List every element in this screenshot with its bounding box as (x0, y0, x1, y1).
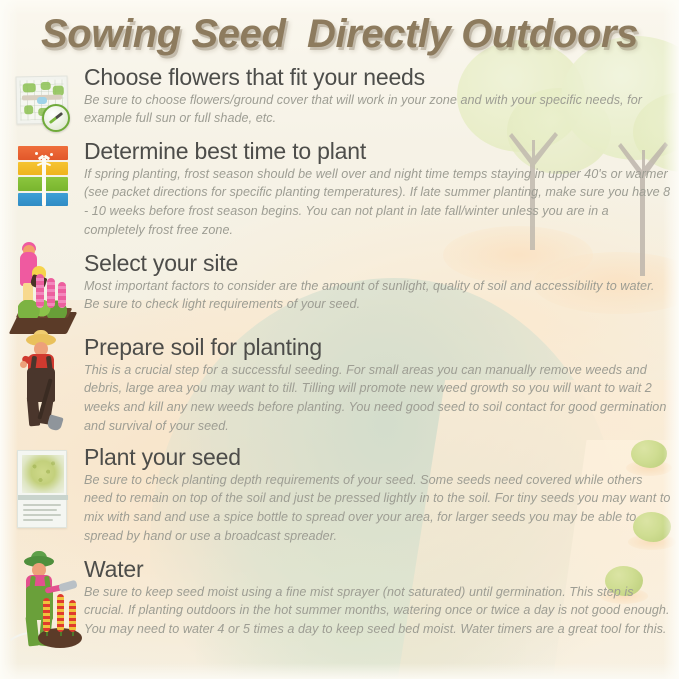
seed-packet-photo (22, 455, 64, 493)
season-tree-overlay (37, 148, 51, 206)
seed-packet-icon (12, 444, 78, 540)
compass-icon (42, 104, 70, 132)
four-seasons-tree-icon (12, 138, 78, 234)
step-description: This is a crucial step for a successful … (84, 361, 672, 435)
season-bars (18, 146, 68, 208)
compass-needle (49, 112, 63, 124)
gardener-hand (20, 361, 27, 368)
plan-bed-shape (24, 105, 33, 114)
season-leaf-dot (50, 153, 53, 156)
foxglove-spike (47, 278, 55, 308)
seed-packet-card (17, 450, 67, 528)
red-flower-spike (57, 594, 64, 632)
step-description: Be sure to keep seed moist using a fine … (84, 583, 672, 639)
poster-title-wrap: Sowing Seed Directly Outdoors (0, 12, 679, 57)
step-heading: Determine best time to plant (84, 139, 672, 164)
step-select-site: Select your site Most important factors … (12, 250, 672, 346)
step-body: Select your site Most important factors … (78, 250, 672, 314)
page-title: Sowing Seed Directly Outdoors (41, 12, 638, 57)
plan-bed-shape (23, 83, 36, 92)
step-description: Be sure to check planting depth requirem… (84, 471, 672, 545)
step-body: Prepare soil for planting This is a cruc… (78, 334, 672, 435)
step-prepare-soil: Prepare soil for planting This is a cruc… (12, 334, 672, 435)
step-body: Plant your seed Be sure to check plantin… (78, 444, 672, 545)
gardener-leg (25, 616, 39, 647)
content-layer: Sowing Seed Directly Outdoors (0, 0, 679, 679)
red-flower-spike (69, 600, 76, 632)
shovel-blade (46, 414, 63, 431)
step-heading: Select your site (84, 251, 672, 276)
plan-bed-shape (41, 82, 51, 90)
packet-text-line (23, 519, 53, 521)
red-flower-spike (43, 598, 50, 632)
foxglove-spike (36, 274, 44, 308)
foxglove-spike (58, 282, 66, 308)
step-heading: Water (84, 557, 672, 582)
gardener-watering-icon (12, 556, 78, 652)
step-description: If spring planting, frost season should … (84, 165, 672, 239)
infographic-poster: Sowing Seed Directly Outdoors (0, 0, 679, 679)
packet-text-line (23, 514, 61, 516)
packet-text-line (23, 504, 61, 506)
seed-packet-band (18, 495, 68, 500)
step-heading: Choose flowers that fit your needs (84, 65, 672, 90)
step-body: Water Be sure to keep seed moist using a… (78, 556, 672, 639)
step-plant-seed: Plant your seed Be sure to check plantin… (12, 444, 672, 545)
gardener-with-shovel-icon (12, 334, 78, 430)
step-heading: Plant your seed (84, 445, 672, 470)
seed-texture (22, 455, 64, 493)
step-description: Be sure to choose flowers/ground cover t… (84, 91, 672, 128)
plan-water-shape (37, 97, 47, 104)
step-water: Water Be sure to keep seed moist using a… (12, 556, 672, 652)
season-leaf-dot (35, 152, 38, 155)
step-description: Most important factors to consider are t… (84, 277, 672, 314)
step-heading: Prepare soil for planting (84, 335, 672, 360)
step-body: Choose flowers that fit your needs Be su… (78, 64, 672, 128)
spray-nozzle (58, 580, 78, 593)
step-body: Determine best time to plant If spring p… (78, 138, 672, 239)
packet-text-line (23, 509, 57, 511)
season-tree-trunk (42, 158, 46, 206)
step-determine-time: Determine best time to plant If spring p… (12, 138, 672, 239)
